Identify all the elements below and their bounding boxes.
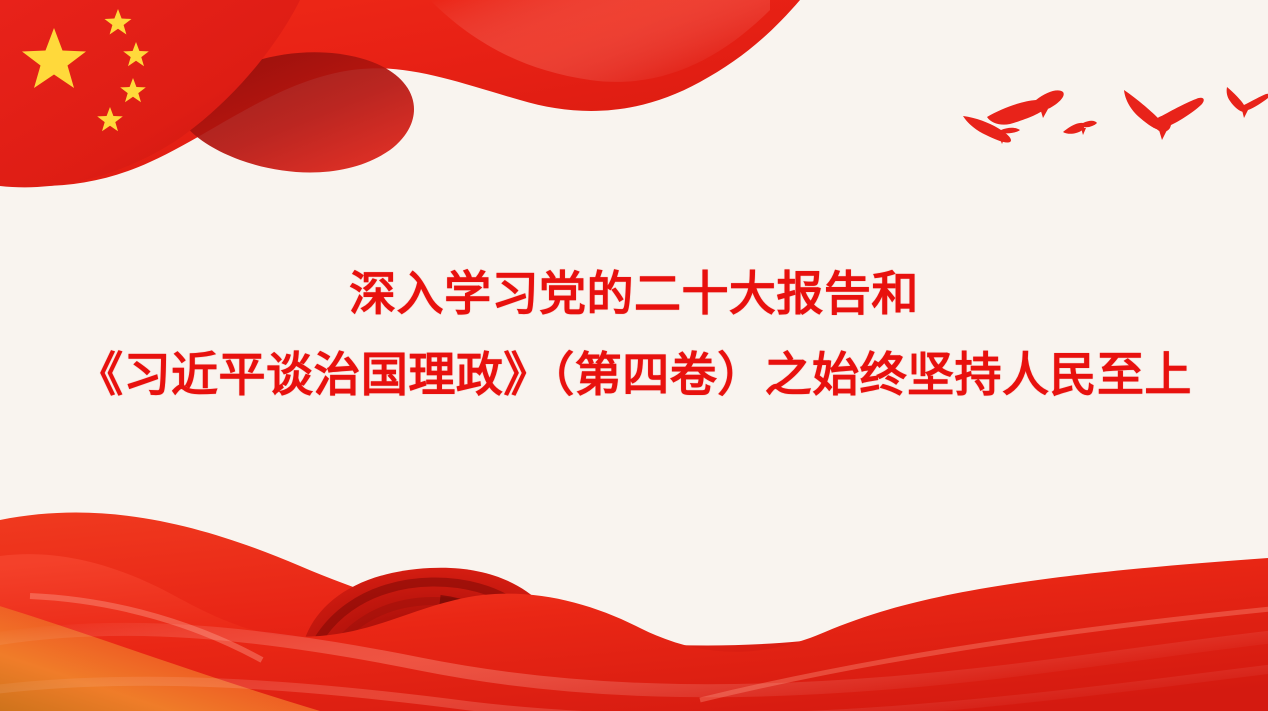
flag-star-small-1 <box>105 9 132 35</box>
flag-star-small-3 <box>120 78 146 102</box>
silk-highlight-1 <box>0 629 1268 690</box>
flying-birds-flock <box>963 87 1268 144</box>
bottom-drape-front <box>0 554 1268 711</box>
silk-highlight-2 <box>0 668 1268 711</box>
top-drape-sheen <box>430 0 770 82</box>
bird-icon-1 <box>963 116 1020 144</box>
page-title: 深入学习党的二十大报告和 《习近平谈治国理政》（第四卷）之始终坚持人民至上 <box>0 264 1268 407</box>
top-drape-group <box>0 0 800 187</box>
top-drape-main <box>0 0 800 186</box>
flag-stars-group <box>22 9 149 131</box>
bird-icon-5 <box>1227 87 1268 118</box>
flag-star-small-4 <box>97 107 123 131</box>
flag-star-large <box>22 28 86 88</box>
slide-canvas: 深入学习党的二十大报告和 《习近平谈治国理政》（第四卷）之始终坚持人民至上 <box>0 0 1268 711</box>
bird-icon-2 <box>987 90 1064 124</box>
title-line-2: 《习近平谈治国理政》（第四卷）之始终坚持人民至上 <box>0 345 1268 407</box>
title-line-1: 深入学习党的二十大报告和 <box>0 264 1268 326</box>
flag-star-small-2 <box>123 42 149 66</box>
silk-highlight-4 <box>30 596 262 660</box>
bottom-drape-group <box>0 513 1268 711</box>
orange-accent-band <box>0 600 320 711</box>
bottom-drape-back <box>0 513 1268 711</box>
top-drape-fold <box>175 52 414 172</box>
bird-icon-3 <box>1063 121 1097 135</box>
flag-field <box>0 0 300 187</box>
silk-rose-swirl <box>290 555 590 711</box>
silk-highlight-3 <box>700 608 1268 700</box>
bird-icon-4 <box>1124 90 1204 140</box>
